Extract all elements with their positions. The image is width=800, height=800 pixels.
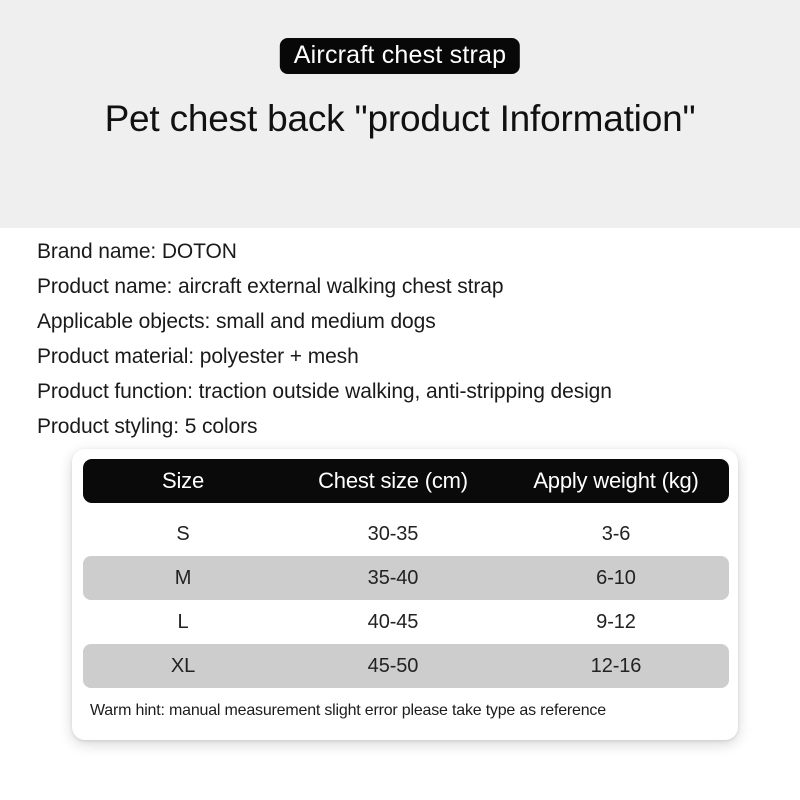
info-line-applicable-objects: Applicable objects: small and medium dog… [37,304,787,339]
cell-chest: 40-45 [283,611,503,634]
cell-weight: 6-10 [503,567,729,590]
cell-chest: 30-35 [283,523,503,546]
size-chart-card: Size Chest size (cm) Apply weight (kg) S… [72,449,738,740]
info-line-product-styling: Product styling: 5 colors [37,409,787,444]
cell-size: XL [83,655,283,678]
header-band: Aircraft chest strap Pet chest back "pro… [0,0,800,228]
warm-hint-note: Warm hint: manual measurement slight err… [90,701,606,721]
cell-size: L [83,611,283,634]
page-title: Pet chest back "product Information" [0,97,800,141]
cell-chest: 45-50 [283,655,503,678]
cell-size: M [83,567,283,590]
product-category-badge: Aircraft chest strap [280,38,520,74]
size-table-body: S 30-35 3-6 M 35-40 6-10 L 40-45 9-12 XL… [83,512,729,688]
cell-weight: 12-16 [503,655,729,678]
cell-size: S [83,523,283,546]
column-header-chest-size: Chest size (cm) [283,468,503,494]
product-info-list: Brand name: DOTON Product name: aircraft… [37,234,787,444]
table-row: L 40-45 9-12 [83,600,729,644]
cell-weight: 3-6 [503,523,729,546]
table-row: XL 45-50 12-16 [83,644,729,688]
cell-chest: 35-40 [283,567,503,590]
cell-weight: 9-12 [503,611,729,634]
info-line-product-material: Product material: polyester + mesh [37,339,787,374]
size-table-header-row: Size Chest size (cm) Apply weight (kg) [83,459,729,503]
info-line-product-name: Product name: aircraft external walking … [37,269,787,304]
table-row: M 35-40 6-10 [83,556,729,600]
column-header-size: Size [83,468,283,494]
info-line-brand-name: Brand name: DOTON [37,234,787,269]
column-header-apply-weight: Apply weight (kg) [503,468,729,494]
info-line-product-function: Product function: traction outside walki… [37,374,787,409]
table-row: S 30-35 3-6 [83,512,729,556]
